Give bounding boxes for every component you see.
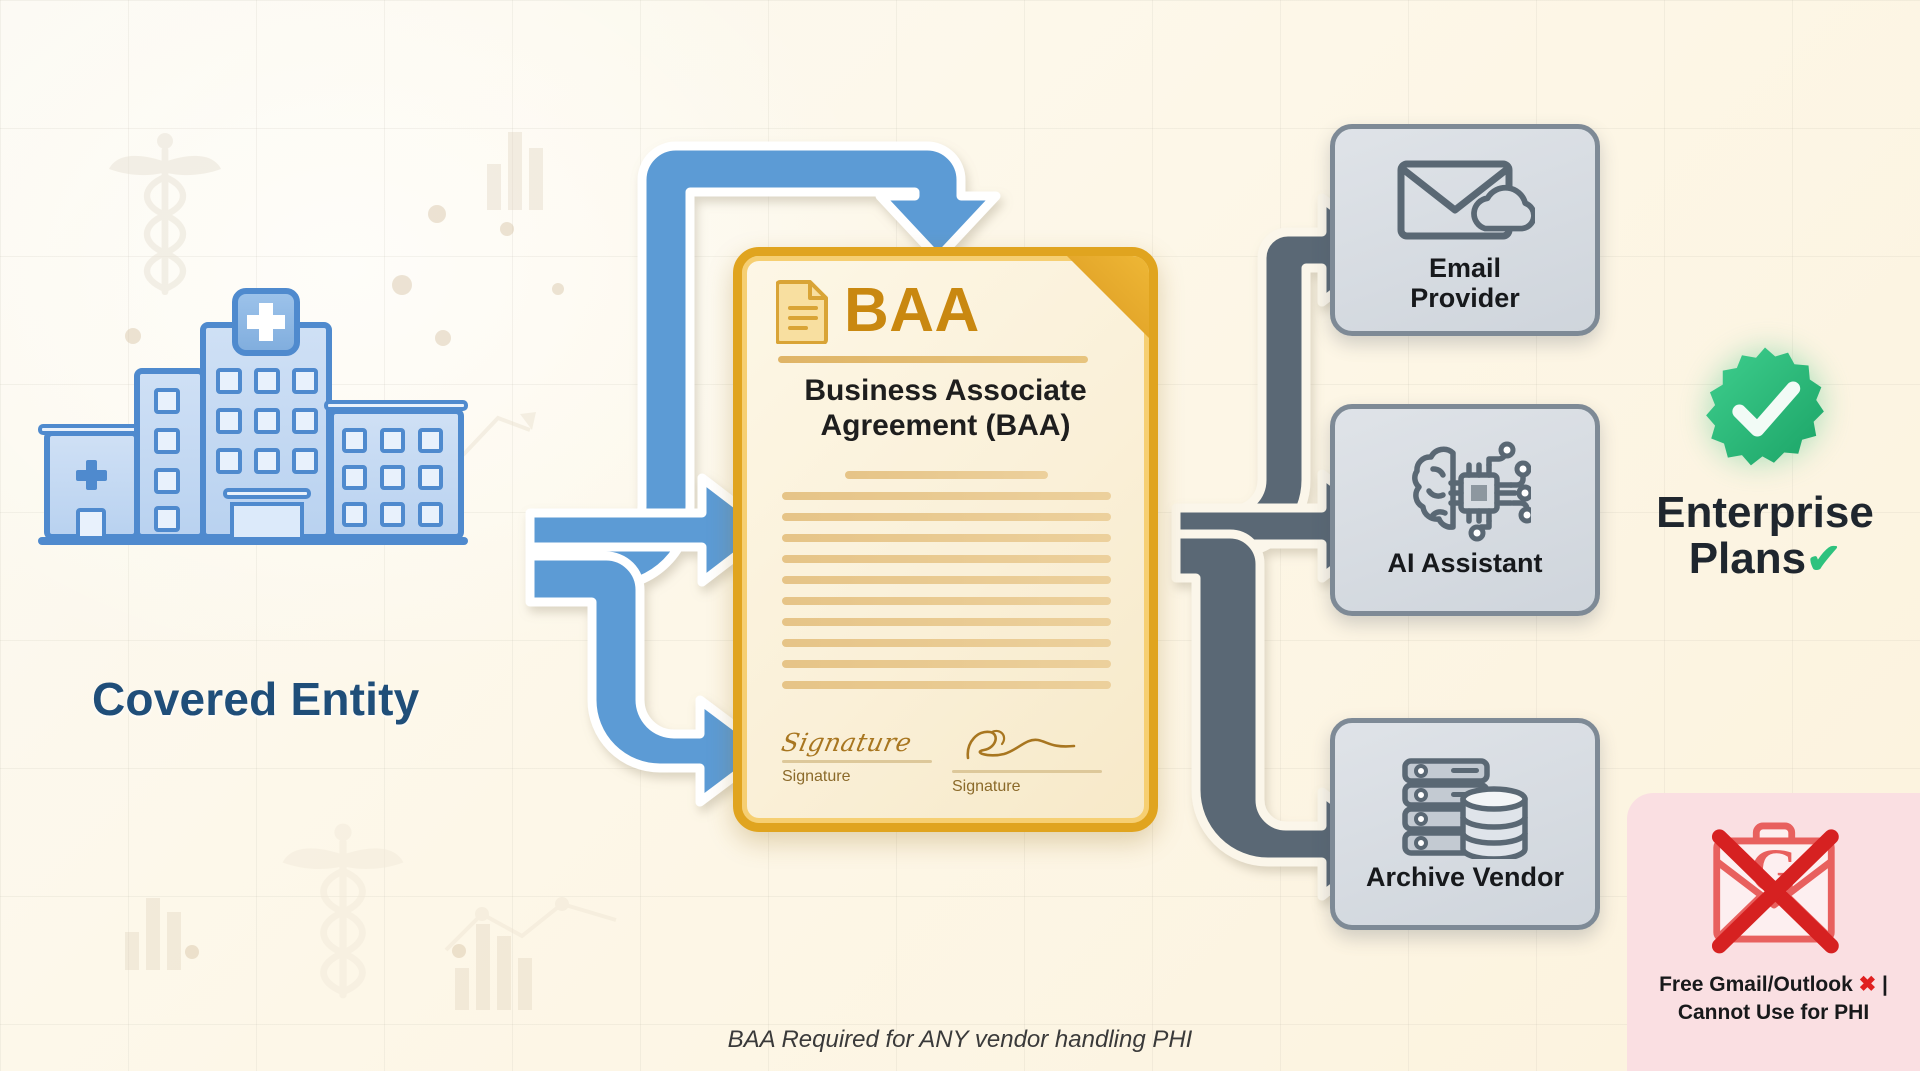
- signature-block-1: Signature Signature: [782, 728, 932, 786]
- diagram-caption: BAA Required for ANY vendor handling PHI: [0, 1026, 1920, 1054]
- signature-caption-1: Signature: [782, 768, 932, 786]
- signature-block-2: Signature: [952, 728, 1102, 796]
- enterprise-line2-row: Plans✔: [1630, 536, 1900, 582]
- vendor-label-email-provider: Email Provider: [1410, 254, 1520, 313]
- document-subtitle-line2: Agreement (BAA): [760, 409, 1131, 444]
- baa-title: BAA: [844, 280, 980, 342]
- enterprise-check-icon: ✔: [1806, 535, 1841, 582]
- verified-check-badge-icon: [1701, 345, 1829, 473]
- vendor-card-ai-assistant[interactable]: AI Assistant: [1330, 404, 1600, 616]
- brain-chip-icon: [1399, 441, 1531, 545]
- warning-line1-prefix: Free Gmail/Outlook: [1659, 973, 1859, 996]
- signature-rule-2: [952, 770, 1102, 773]
- document-subtitle-line1: Business Associate: [760, 374, 1131, 409]
- vendor-card-archive-vendor[interactable]: Archive Vendor: [1330, 718, 1600, 930]
- document-body-lines: [782, 471, 1111, 702]
- warning-line1: Free Gmail/Outlook ✖ |: [1659, 971, 1888, 999]
- baa-document-card: BAA Business Associate Agreement (BAA) S…: [733, 247, 1158, 832]
- signature-rule-1: [782, 760, 932, 763]
- signature-caption-2: Signature: [952, 778, 1102, 796]
- warning-line2: Cannot Use for PHI: [1659, 999, 1888, 1027]
- enterprise-line2: Plans: [1689, 534, 1806, 583]
- document-header: BAA: [776, 278, 980, 344]
- vendor-label-archive-vendor: Archive Vendor: [1366, 863, 1564, 893]
- document-title-rule: [778, 356, 1088, 363]
- enterprise-plans-block: Enterprise Plans✔: [1630, 345, 1900, 582]
- vendor-label-line1: Email: [1410, 254, 1520, 284]
- signature-script-1: Signature: [779, 728, 935, 757]
- server-database-icon: [1397, 755, 1533, 859]
- diagram-canvas: Covered Entity .blu{fill:#5b9bd5;stroke:…: [0, 0, 1920, 1071]
- envelope-cloud-icon: [1395, 146, 1535, 250]
- vendor-card-email-provider[interactable]: Email Provider: [1330, 124, 1600, 336]
- warning-line1-suffix: |: [1876, 973, 1888, 996]
- document-corner-fold: [1065, 254, 1151, 340]
- document-subtitle: Business Associate Agreement (BAA): [742, 374, 1149, 444]
- vendor-label-line2: Provider: [1410, 284, 1520, 314]
- crossed-out-gmail-envelope-icon: G: [1692, 815, 1856, 965]
- vendor-label-ai-assistant: AI Assistant: [1387, 549, 1542, 579]
- enterprise-plans-text: Enterprise Plans✔: [1630, 490, 1900, 582]
- enterprise-line1: Enterprise: [1630, 490, 1900, 536]
- handwritten-signature-mark: [952, 728, 1082, 762]
- document-file-icon: [776, 278, 830, 344]
- free-email-warning-text: Free Gmail/Outlook ✖ | Cannot Use for PH…: [1659, 971, 1888, 1026]
- warning-x-icon: ✖: [1859, 973, 1877, 996]
